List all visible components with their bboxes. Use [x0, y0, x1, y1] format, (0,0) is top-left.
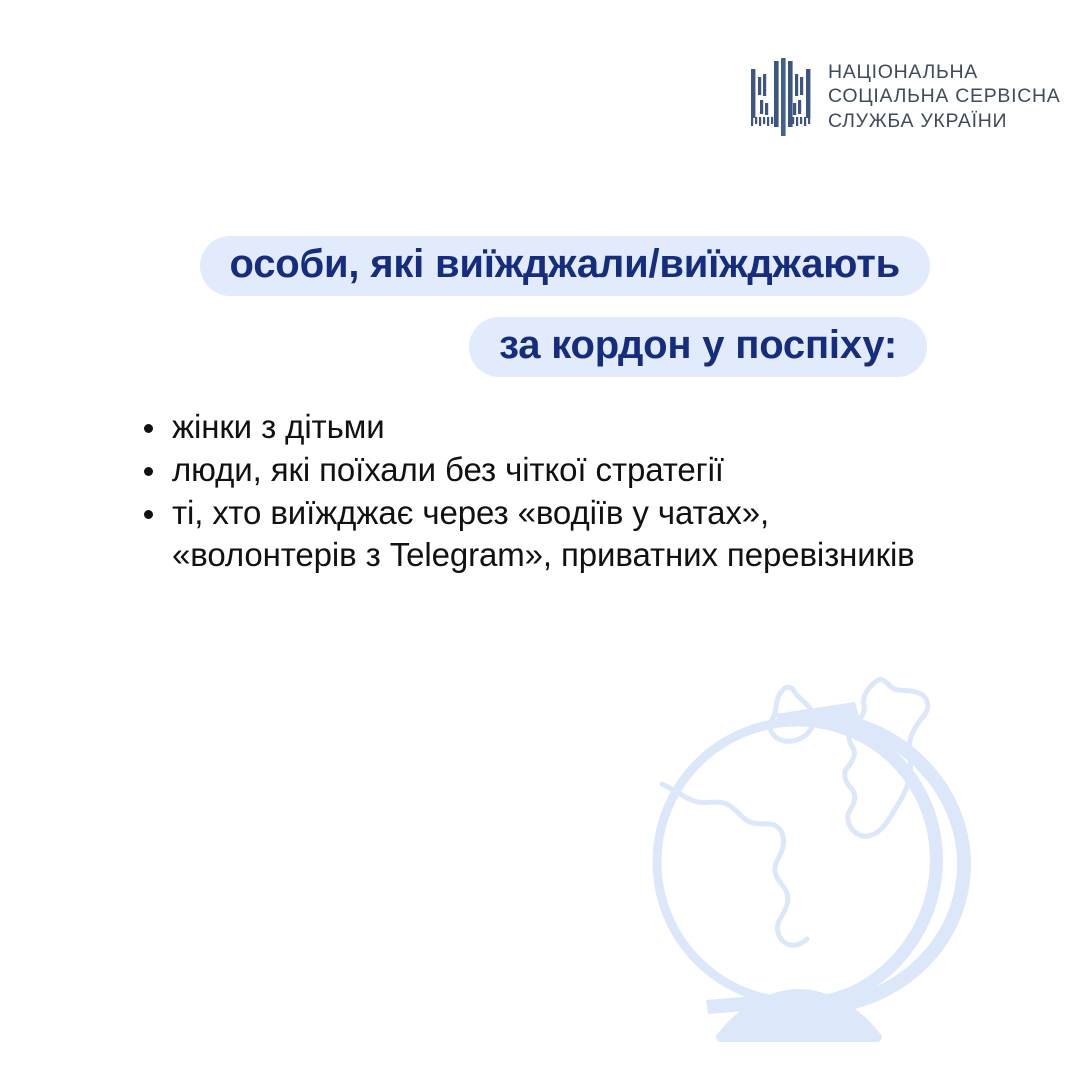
logo-line-2: СОЦІАЛЬНА СЕРВІСНА — [828, 86, 1061, 107]
title-text-1: особи, які виїжджали/виїжджають — [230, 242, 901, 286]
bullet-dot-icon — [144, 467, 153, 476]
title-text-2: за кордон у поспіху: — [499, 323, 897, 367]
audience-list: жінки з дітьми люди, які поїхали без чіт… — [140, 406, 930, 577]
bullet-dot-icon — [144, 510, 153, 519]
list-item-label: жінки з дітьми — [172, 408, 385, 445]
title-pill-2: за кордон у поспіху: — [469, 317, 927, 377]
organization-logo: НАЦІОНАЛЬНА СОЦІАЛЬНА СЕРВІСНА СЛУЖБА УК… — [748, 55, 1061, 139]
list-item: жінки з дітьми — [140, 406, 930, 448]
bullet-dot-icon — [144, 424, 153, 433]
logo-line-1: НАЦІОНАЛЬНА — [828, 62, 1061, 83]
trident-bars-icon — [748, 55, 814, 139]
organization-name: НАЦІОНАЛЬНА СОЦІАЛЬНА СЕРВІСНА СЛУЖБА УК… — [828, 62, 1061, 131]
title-row-2: за кордон у поспіху: — [0, 317, 927, 377]
list-item-label: люди, які поїхали без чіткої стратегії — [172, 451, 724, 488]
logo-line-3: СЛУЖБА УКРАЇНИ — [828, 111, 1061, 132]
title-pill-1: особи, які виїжджали/виїжджають — [200, 236, 931, 296]
list-item: ті, хто виїжджає через «водіїв у чатах»,… — [140, 492, 930, 576]
list-item-label: ті, хто виїжджає через «водіїв у чатах»,… — [172, 494, 915, 573]
infographic-page: НАЦІОНАЛЬНА СОЦІАЛЬНА СЕРВІСНА СЛУЖБА УК… — [0, 0, 1080, 1080]
globe-on-stand-icon — [640, 592, 1060, 1042]
list-item: люди, які поїхали без чіткої стратегії — [140, 449, 930, 491]
title-row-1: особи, які виїжджали/виїжджають — [0, 236, 930, 296]
